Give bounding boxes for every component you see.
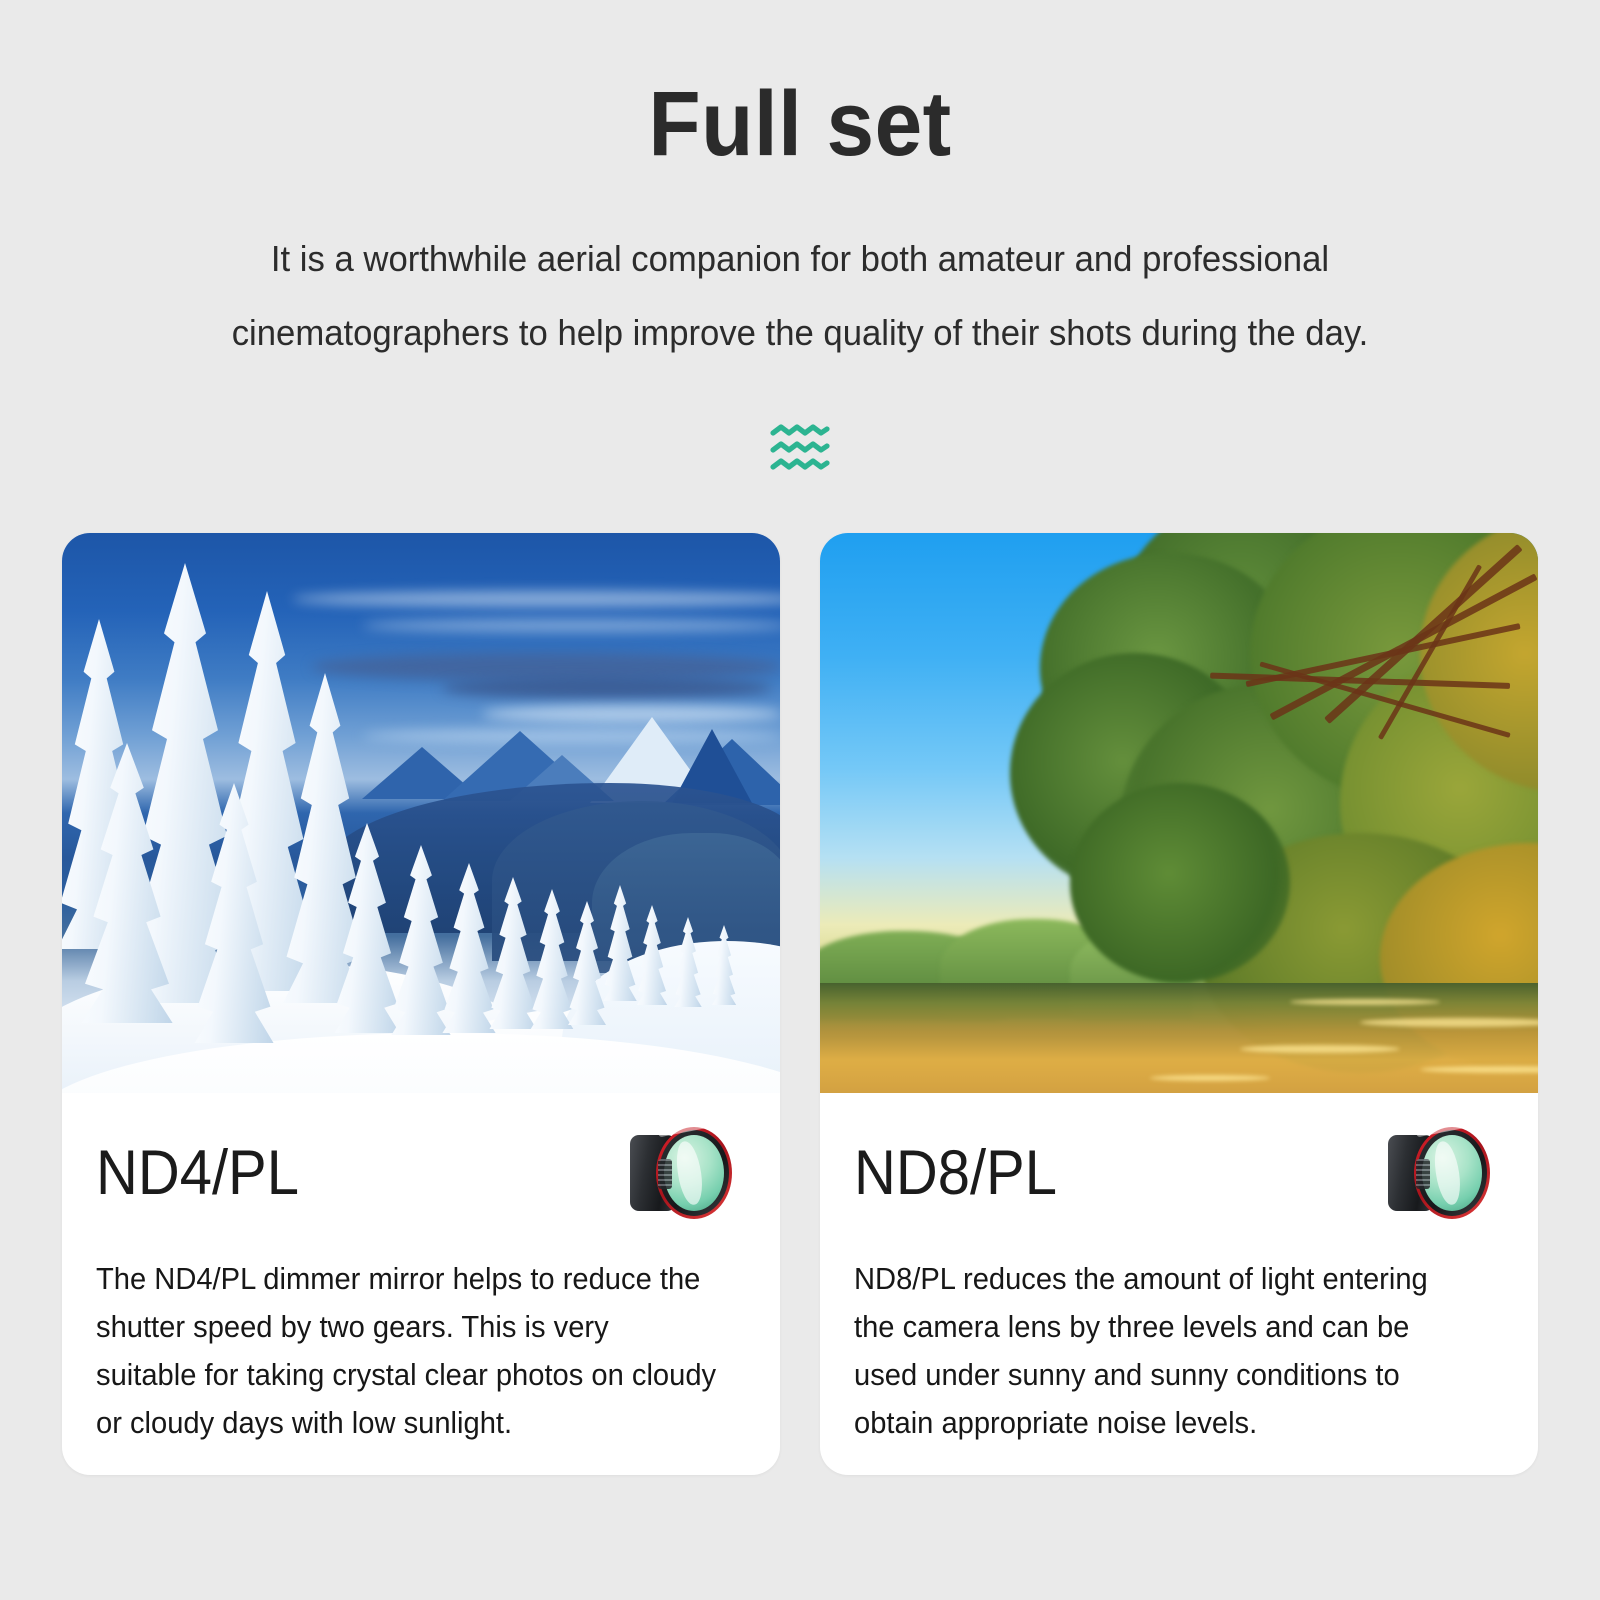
nd-filter-icon	[628, 1121, 732, 1225]
page-header: Full set It is a worthwhile aerial compa…	[0, 0, 1600, 370]
subtitle-line-2: cinematographers to help improve the qua…	[40, 296, 1560, 370]
card-description-nd4-pl: The ND4/PL dimmer mirror helps to reduce…	[96, 1255, 717, 1447]
card-header-nd8-pl: ND8/PL	[854, 1093, 1504, 1253]
snowy-mountain-forest-photo	[62, 533, 780, 1093]
product-card-nd8-pl[interactable]: ND8/PL ND8/PL reduces the amount of ligh…	[820, 533, 1538, 1475]
page-subtitle: It is a worthwhile aerial companion for …	[0, 170, 1600, 370]
product-card-list: ND4/PL The ND4/PL dimmer mirror helps to…	[62, 533, 1538, 1475]
product-card-nd4-pl[interactable]: ND4/PL The ND4/PL dimmer mirror helps to…	[62, 533, 780, 1475]
card-body-nd4-pl: ND4/PL The ND4/PL dimmer mirror helps to…	[62, 1093, 780, 1475]
wave-lines-icon	[769, 423, 831, 475]
card-header-nd4-pl: ND4/PL	[96, 1093, 746, 1253]
card-body-nd8-pl: ND8/PL ND8/PL reduces the amount of ligh…	[820, 1093, 1538, 1475]
section-divider	[0, 414, 1600, 484]
card-description-nd8-pl: ND8/PL reduces the amount of light enter…	[854, 1255, 1475, 1447]
sunset-lake-tree-photo	[820, 533, 1538, 1093]
card-title-nd4-pl: ND4/PL	[96, 1137, 299, 1209]
card-title-nd8-pl: ND8/PL	[854, 1137, 1057, 1209]
subtitle-line-1: It is a worthwhile aerial companion for …	[40, 222, 1560, 296]
nd-filter-icon	[1386, 1121, 1490, 1225]
page-title: Full set	[56, 78, 1544, 170]
